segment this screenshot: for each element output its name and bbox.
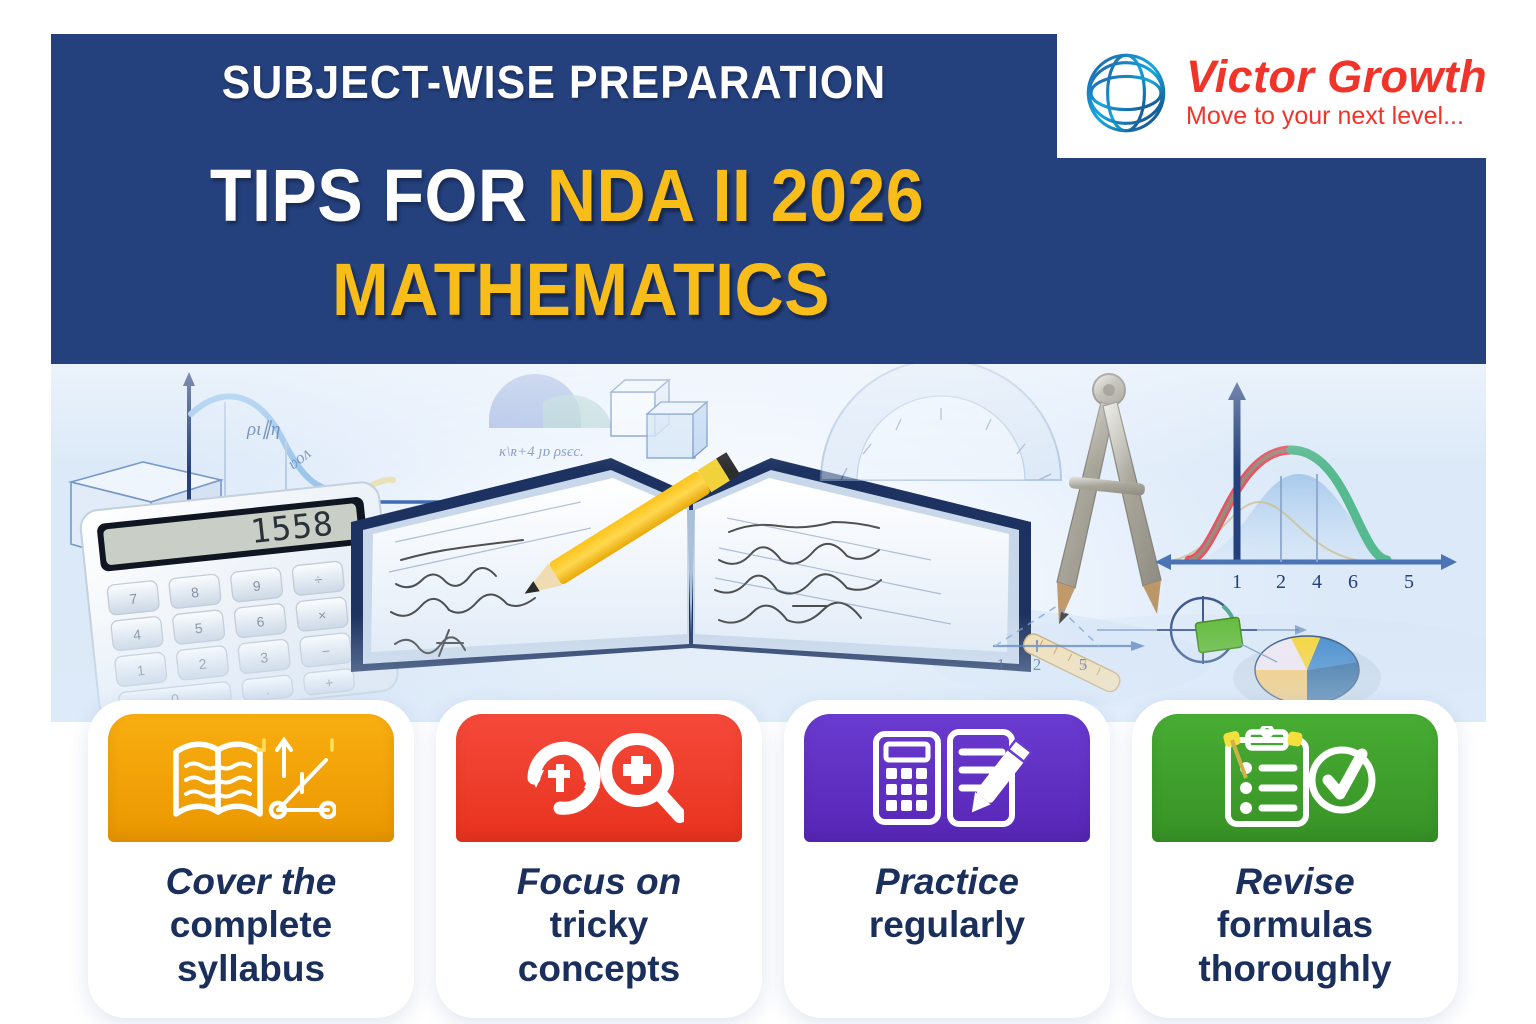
shaded-area-sketch: κ\ʀ+4 ȷɒ ρѕєc. [489, 374, 611, 460]
illustration-svg: 0 2.6 ρι∥η ʋοᴧ κ\ʀ+4 ȷɒ ρѕєc. [51, 362, 1486, 722]
card-icon-header [804, 714, 1090, 842]
tip-card-cover-syllabus[interactable]: Cover the complete syllabus [88, 700, 414, 1018]
card-caption-line-2: formulas [1217, 904, 1373, 945]
brand-logo[interactable]: Victor Growth Move to your next level... [1080, 38, 1500, 148]
card-icon-header [108, 714, 394, 842]
header-tips-for: TIPS FOR [210, 154, 528, 237]
numline-tick-1: 1 [997, 655, 1006, 674]
header-subject: MATHEMATICS [332, 248, 830, 331]
header-title-line1: TIPS FOR NDA II 2026 [92, 153, 1041, 238]
header-title-line2: MATHEMATICS [93, 247, 1068, 332]
card-caption-line-3: syllabus [177, 948, 325, 989]
clipboard-check-icon [1210, 726, 1380, 830]
card-caption-line-1: Focus on [517, 861, 681, 902]
logo-brand-name: Victor Growth [1186, 54, 1487, 100]
svg-text:−: − [321, 643, 331, 660]
svg-text:κ\ʀ+4 ȷɒ ρѕєc.: κ\ʀ+4 ȷɒ ρѕєc. [499, 444, 584, 460]
header-exam-name: NDA II 2026 [547, 154, 924, 237]
card-caption-line-1: Revise [1235, 861, 1354, 902]
poster-canvas: 0 2.6 ρι∥η ʋοᴧ κ\ʀ+4 ȷɒ ρѕєc. [0, 0, 1536, 1024]
card-icon-header [1152, 714, 1438, 842]
geometry-compass [1057, 374, 1161, 624]
tip-card-tricky-concepts[interactable]: Focus on tricky concepts [436, 700, 762, 1018]
math-illustration: 0 2.6 ρι∥η ʋοᴧ κ\ʀ+4 ȷɒ ρѕєc. [51, 362, 1486, 722]
header-subtitle: SUBJECT-WISE PREPARATION [86, 55, 1022, 109]
svg-text:+: + [324, 674, 334, 691]
protractor [821, 362, 1061, 480]
card-caption-line-3: thoroughly [1198, 948, 1391, 989]
open-book-graph-icon [166, 726, 336, 830]
tip-card-revise-formulas[interactable]: Revise formulas thoroughly [1132, 700, 1458, 1018]
tips-card-row: Cover the complete syllabus [88, 700, 1458, 1018]
bell-tick-2: 2 [1276, 571, 1286, 593]
card-caption: Cover the complete syllabus [160, 860, 343, 990]
bell-tick-4: 4 [1312, 571, 1322, 593]
bell-curve-graph: 1 2 4 6 5 [1155, 382, 1457, 593]
bell-tick-5: 5 [1404, 571, 1414, 593]
card-caption: Practice regularly [863, 860, 1031, 947]
card-caption-line-3: concepts [518, 948, 680, 989]
bell-tick-6: 6 [1348, 571, 1358, 593]
cube-pair-sketch [611, 380, 707, 458]
globe-icon [1080, 47, 1172, 139]
tip-card-practice-regularly[interactable]: Practice regularly [784, 700, 1110, 1018]
refresh-magnifier-icon [514, 726, 684, 830]
card-caption-line-1: Practice [875, 861, 1019, 902]
card-caption-line-2: complete [170, 904, 332, 945]
svg-text:×: × [317, 607, 327, 624]
card-caption: Focus on tricky concepts [511, 860, 687, 990]
calculator-notepad-icon [862, 726, 1032, 830]
card-caption-line-1: Cover the [166, 861, 337, 902]
numline-tick-5: 5 [1079, 655, 1088, 674]
card-icon-header [456, 714, 742, 842]
card-caption: Revise formulas thoroughly [1192, 860, 1397, 990]
bell-tick-1: 1 [1232, 571, 1242, 593]
svg-text:ρι∥η: ρι∥η [246, 419, 280, 440]
card-caption-line-2: tricky [550, 904, 649, 945]
card-caption-line-2: regularly [869, 904, 1025, 945]
numline-tick-2: 2 [1033, 655, 1042, 674]
logo-tagline: Move to your next level... [1186, 101, 1487, 132]
